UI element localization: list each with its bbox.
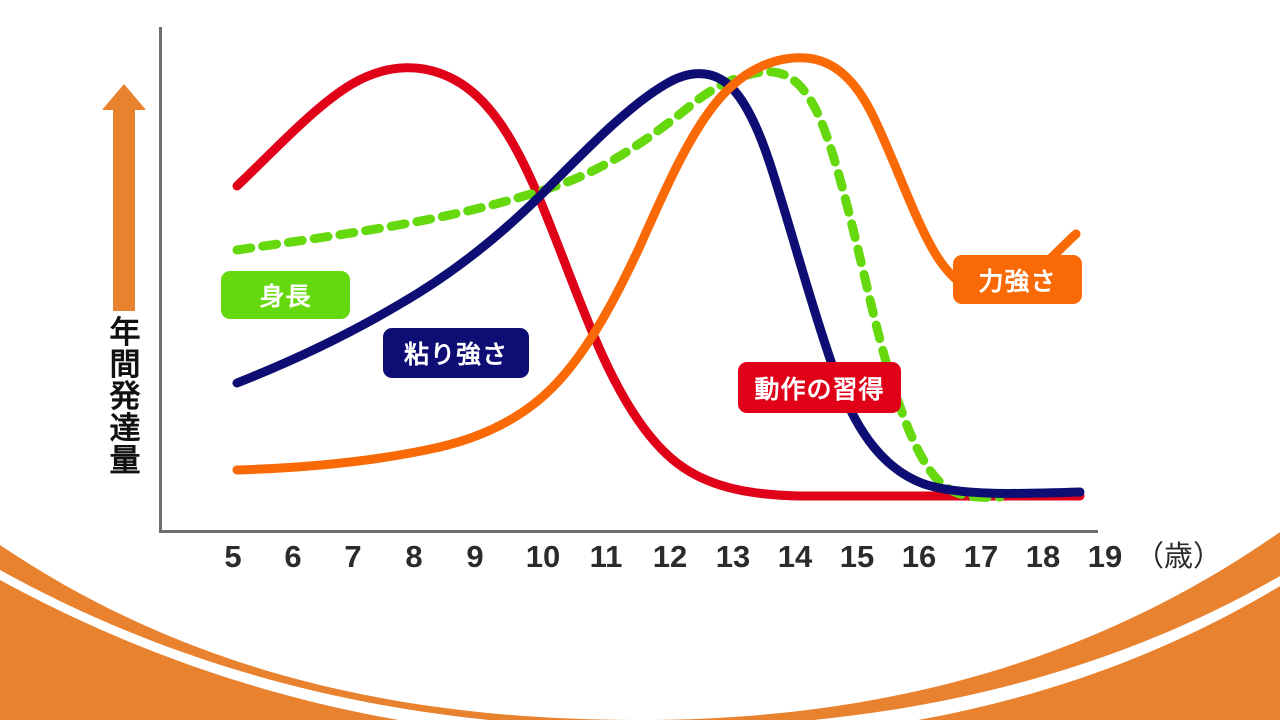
y-axis-up-arrow-icon xyxy=(102,84,146,311)
x-tick-10: 10 xyxy=(526,539,560,574)
x-tick-12: 12 xyxy=(653,539,687,574)
y-axis-label-char-4: 達 xyxy=(96,414,154,446)
development-curve-chart: 5 6 7 8 9 10 11 12 13 14 15 16 17 18 19 … xyxy=(0,0,1280,720)
y-axis-label-char-2: 間 xyxy=(96,350,154,382)
x-tick-5: 5 xyxy=(224,539,241,574)
y-axis-label-char-3: 発 xyxy=(96,382,154,414)
x-tick-7: 7 xyxy=(344,539,361,574)
legend-label-endurance-text: 粘り強さ xyxy=(404,335,508,371)
x-tick-18: 18 xyxy=(1026,539,1060,574)
x-tick-14: 14 xyxy=(778,539,813,574)
x-tick-19: 19 xyxy=(1088,539,1122,574)
x-axis-tick-labels: 5 6 7 8 9 10 11 12 13 14 15 16 17 18 19 … xyxy=(224,539,1222,574)
x-tick-16: 16 xyxy=(902,539,936,574)
x-axis-unit-label: （歳） xyxy=(1135,540,1222,573)
y-axis-label-char-1: 年 xyxy=(96,318,154,350)
y-axis-label: 年 間 発 達 量 xyxy=(96,318,154,478)
legend-label-motor-acquisition[interactable]: 動作の習得 xyxy=(738,362,901,413)
legend-label-strength[interactable]: 力強さ xyxy=(953,255,1082,304)
x-tick-15: 15 xyxy=(840,539,874,574)
x-tick-17: 17 xyxy=(964,539,998,574)
x-tick-13: 13 xyxy=(716,539,750,574)
x-tick-9: 9 xyxy=(466,539,483,574)
curve-strength xyxy=(237,58,1076,470)
legend-label-height[interactable]: 身長 xyxy=(221,271,350,319)
legend-label-strength-text: 力強さ xyxy=(978,262,1056,298)
legend-label-height-text: 身長 xyxy=(259,277,311,313)
x-tick-8: 8 xyxy=(405,539,422,574)
x-tick-6: 6 xyxy=(284,539,301,574)
legend-label-endurance[interactable]: 粘り強さ xyxy=(383,328,529,378)
x-tick-11: 11 xyxy=(590,539,623,574)
y-axis-label-char-5: 量 xyxy=(96,446,154,478)
legend-label-motor-acquisition-text: 動作の習得 xyxy=(754,370,884,406)
slide-canvas: 5 6 7 8 9 10 11 12 13 14 15 16 17 18 19 … xyxy=(0,0,1280,720)
